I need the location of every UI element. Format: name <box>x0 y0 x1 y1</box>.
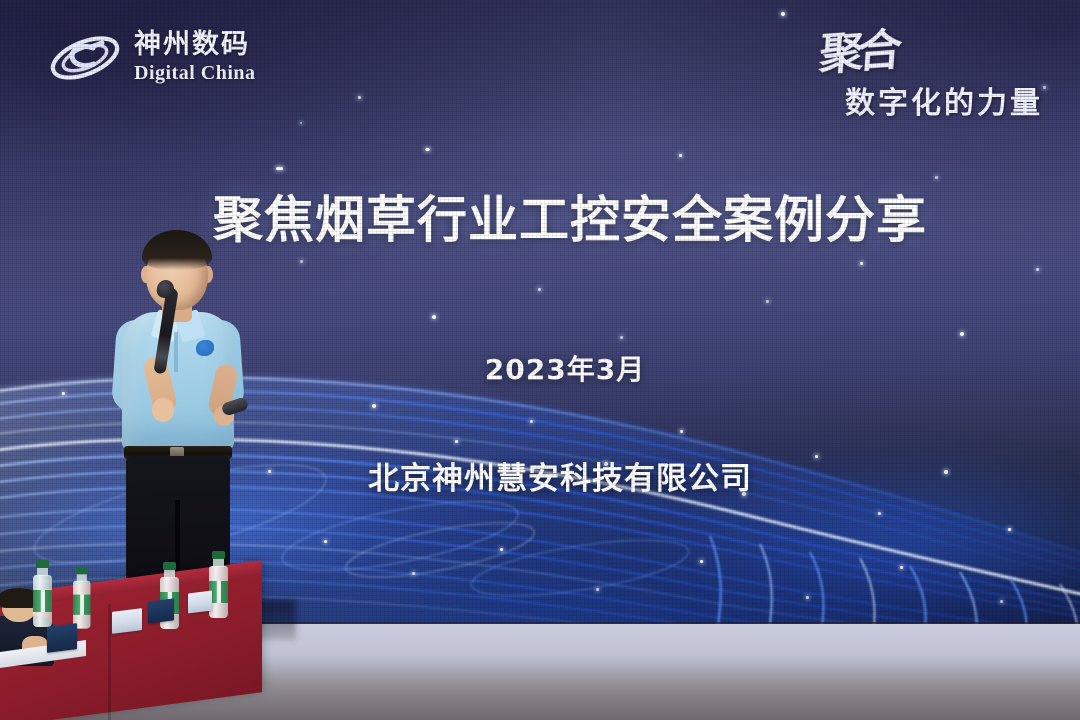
digital-china-wordmark: 神州数码 Digital China <box>134 31 256 85</box>
particle <box>358 96 361 99</box>
presenter-hand-left <box>152 398 174 422</box>
name-card <box>188 591 212 614</box>
particle <box>276 167 283 170</box>
particle <box>1036 268 1039 271</box>
particle <box>935 176 938 179</box>
bottle-label <box>33 590 52 612</box>
event-logo: 聚合 数字化的力量 <box>790 16 1060 120</box>
logo-chinese-text: 神州数码 <box>134 31 256 58</box>
bottle-cap <box>76 567 88 574</box>
digital-china-logo: 神州数码 Digital China <box>46 22 316 94</box>
screenshot-root: 神州数码 Digital China 聚合 数字化的力量 聚焦烟草行业工控安全案… <box>0 0 1080 720</box>
name-card <box>47 623 77 653</box>
swirl-galaxy-icon <box>46 28 124 88</box>
logo-english-text: Digital China <box>134 63 256 83</box>
particle <box>300 122 302 124</box>
event-tagline-text: 数字化的力量 <box>845 78 1043 122</box>
presenter-shirt-emblem <box>196 340 214 356</box>
particle <box>425 148 430 151</box>
bottle-cap <box>212 551 225 559</box>
event-calligraphy-text: 聚合 <box>817 13 898 82</box>
bottle-cap <box>36 560 49 568</box>
particle <box>300 260 303 263</box>
presenter-hair <box>142 230 212 270</box>
presenter-shirt-placket <box>174 332 178 372</box>
bottle-label <box>73 595 90 615</box>
table-cloth-fold <box>108 604 111 720</box>
bottle-cap <box>163 562 176 570</box>
particle <box>538 288 541 291</box>
name-card <box>112 608 142 634</box>
particle <box>781 12 785 16</box>
particle <box>679 154 682 157</box>
particle <box>860 262 863 265</box>
name-card <box>148 598 174 623</box>
